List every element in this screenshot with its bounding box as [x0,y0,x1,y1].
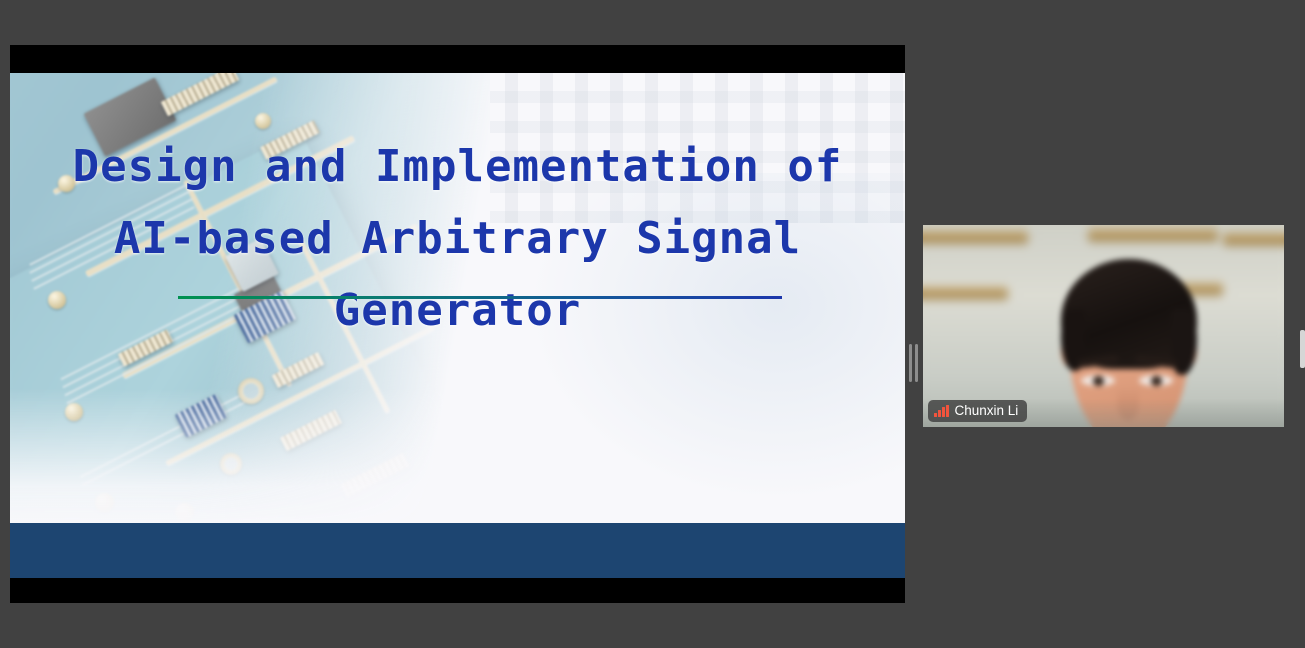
person-eye-right [1139,375,1173,386]
audio-level-meter-icon [934,405,949,417]
pane-splitter-handle[interactable] [906,341,920,385]
slide-letterbox-top [10,45,905,73]
person-eye-left [1081,375,1115,386]
person-pupil-left [1093,376,1104,386]
participant-person [1055,257,1203,427]
person-nose [1117,385,1139,421]
pcb-pad [58,175,75,192]
circuit-board-photo [10,73,490,528]
pcb-pad [175,503,194,522]
edge-resize-handle[interactable] [1300,330,1305,368]
shared-screen-pane[interactable]: Design and Implementation of AI-based Ar… [10,45,905,603]
slide-title-underline [178,296,782,299]
slide-letterbox-bottom [10,578,905,603]
participant-name-label: Chunxin Li [955,400,1019,422]
pcb-pad-ring [220,453,242,475]
person-pupil-right [1151,376,1162,386]
vertical-grip-handle-icon [915,344,918,382]
pcb-pad [255,113,271,129]
slide-background-glow [525,173,905,503]
background-shelf [923,231,1028,244]
participant-name-badge: Chunxin Li [928,400,1027,422]
background-shelf [923,287,1008,300]
pcb-pad-ring [238,378,264,404]
pcb-pad [65,403,83,421]
background-shelf [1088,229,1218,242]
pcb-pad [95,493,114,512]
participant-video-tile[interactable]: Chunxin Li [923,225,1284,427]
vertical-grip-handle-icon [909,344,912,382]
presentation-slide: Design and Implementation of AI-based Ar… [10,73,905,578]
pcb-pad [48,291,66,309]
slide-footer-band [10,523,905,578]
background-shelf [1223,233,1284,246]
